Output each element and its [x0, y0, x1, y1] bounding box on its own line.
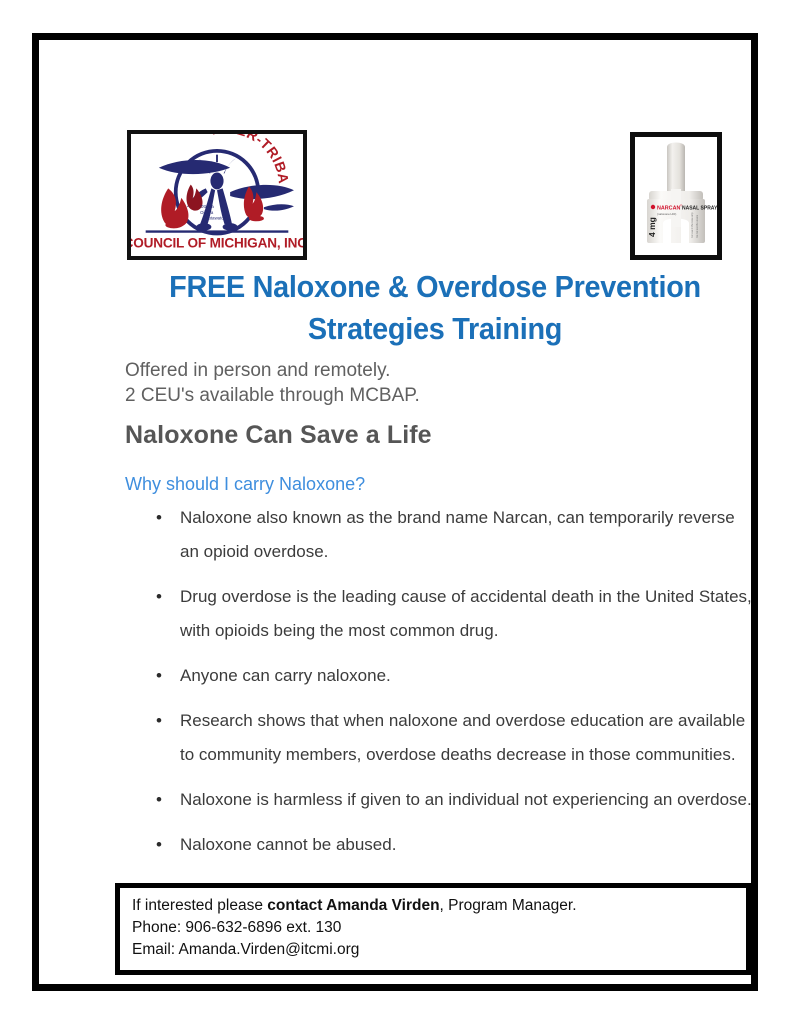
bullet-text: Naloxone also known as the brand name Na…: [180, 501, 755, 569]
logo-bottom-text: COUNCIL OF MICHIGAN, INC.: [131, 236, 303, 251]
contact-phone: Phone: 906-632-6896 ext. 130: [132, 917, 746, 939]
logo-artwork: INTER-TRIBAL: [131, 134, 303, 256]
bullet-text: Naloxone cannot be abused.: [180, 828, 755, 862]
bullet-text: Research shows that when naloxone and ov…: [180, 704, 755, 772]
title-line-2: Strategies Training: [124, 308, 745, 350]
svg-text:Do not test the device: Do not test the device: [696, 214, 699, 238]
benefits-bullet-list: Naloxone also known as the brand name Na…: [125, 501, 755, 873]
svg-text:(naloxone HCl): (naloxone HCl): [657, 212, 676, 216]
narcan-product-text: NASAL SPRAY: [682, 206, 717, 212]
offered-line-2: 2 CEU's available through MCBAP.: [125, 383, 420, 408]
flyer-page: INTER-TRIBAL: [0, 0, 791, 1024]
contact-prefix: If interested please: [132, 897, 267, 914]
list-item: Research shows that when naloxone and ov…: [125, 704, 755, 772]
question-heading: Why should I carry Naloxone?: [125, 474, 365, 495]
page-border-frame: INTER-TRIBAL: [32, 33, 758, 991]
title-line-1: FREE Naloxone & Overdose Prevention: [124, 266, 745, 308]
contact-person-name: contact Amanda Virden: [267, 897, 439, 914]
logo-tribe-ojibwa: Ojibwa: [200, 210, 214, 215]
bullet-text: Drug overdose is the leading cause of ac…: [180, 580, 755, 648]
narcan-brand-text: NARCAN: [657, 206, 680, 212]
list-item: Naloxone also known as the brand name Na…: [125, 501, 755, 569]
list-item: Drug overdose is the leading cause of ac…: [125, 580, 755, 648]
narcan-product-photo: NARCAN ® NASAL SPRAY (naloxone HCl) 4 mg…: [630, 132, 722, 260]
inter-tribal-council-logo: INTER-TRIBAL: [127, 130, 307, 260]
contact-email[interactable]: Email: Amanda.Virden@itcmi.org: [132, 939, 746, 961]
flyer-title: FREE Naloxone & Overdose Prevention Stra…: [124, 266, 745, 350]
contact-line-name: If interested please contact Amanda Vird…: [132, 895, 746, 917]
offered-info: Offered in person and remotely. 2 CEU's …: [125, 358, 420, 408]
list-item: Naloxone is harmless if given to an indi…: [125, 783, 755, 817]
svg-text:For use in the nose only: For use in the nose only: [691, 212, 694, 238]
contact-info-text: If interested please contact Amanda Vird…: [120, 888, 746, 961]
contact-info-box: If interested please contact Amanda Vird…: [115, 883, 751, 975]
list-item: Naloxone cannot be abused.: [125, 828, 755, 862]
bullet-text: Naloxone is harmless if given to an indi…: [180, 783, 755, 817]
narcan-dose-text: 4 mg: [647, 217, 657, 237]
logo-tribe-ottawa: Ottawa: [200, 204, 214, 209]
section-heading: Naloxone Can Save a Life: [125, 421, 432, 450]
narcan-device-artwork: NARCAN ® NASAL SPRAY (naloxone HCl) 4 mg…: [635, 137, 717, 255]
contact-suffix: , Program Manager.: [440, 897, 577, 914]
bullet-text: Anyone can carry naloxone.: [180, 659, 755, 693]
list-item: Anyone can carry naloxone.: [125, 659, 755, 693]
logo-tribe-potawatomi: Potawatomi: [206, 215, 228, 220]
offered-line-1: Offered in person and remotely.: [125, 358, 420, 383]
